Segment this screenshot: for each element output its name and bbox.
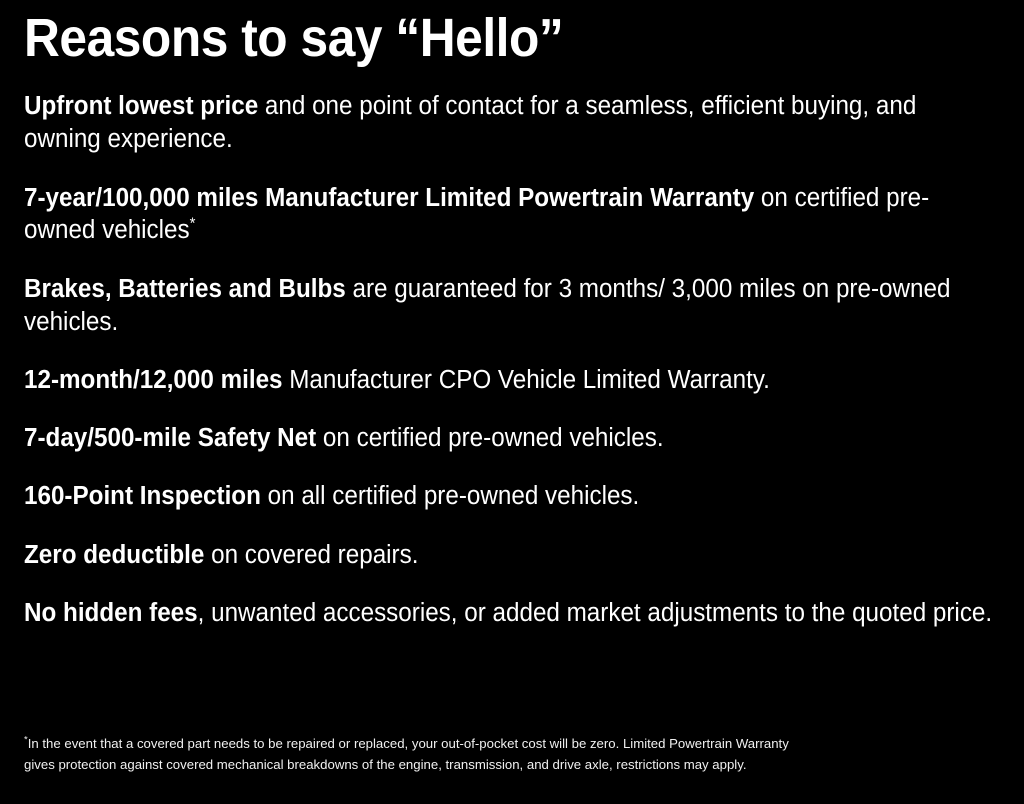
list-item-lead: No hidden fees	[24, 599, 198, 627]
list-item-lead: 7-day/500-mile Safety Net	[24, 424, 316, 452]
list-item-rest: on all certified pre-owned vehicles.	[261, 482, 639, 510]
list-item: Upfront lowest price and one point of co…	[24, 90, 998, 155]
list-item-lead: 12-month/12,000 miles	[24, 366, 283, 394]
list-item-rest: Manufacturer CPO Vehicle Limited Warrant…	[283, 366, 770, 394]
list-item-lead: Zero deductible	[24, 541, 204, 569]
list-item: Brakes, Batteries and Bulbs are guarante…	[24, 273, 998, 338]
list-item-rest: , unwanted accessories, or added market …	[198, 599, 992, 627]
list-item-lead: Upfront lowest price	[24, 92, 258, 120]
reasons-list: Upfront lowest price and one point of co…	[24, 90, 1000, 629]
footnote-line-1: *In the event that a covered part needs …	[24, 733, 1000, 754]
footnote-marker-icon: *	[190, 216, 196, 233]
footnote-line-1-text: In the event that a covered part needs t…	[28, 736, 789, 751]
list-item: 12-month/12,000 miles Manufacturer CPO V…	[24, 364, 998, 397]
slide-root: Reasons to say “Hello” Upfront lowest pr…	[0, 0, 1024, 804]
list-item: Zero deductible on covered repairs.	[24, 539, 998, 572]
list-item-rest: on certified pre-owned vehicles.	[316, 424, 663, 452]
list-item: 160-Point Inspection on all certified pr…	[24, 480, 998, 513]
list-item-lead: Brakes, Batteries and Bulbs	[24, 275, 346, 303]
list-item-lead: 7-year/100,000 miles Manufacturer Limite…	[24, 184, 754, 212]
list-item-rest: on covered repairs.	[204, 541, 418, 569]
list-item: 7-day/500-mile Safety Net on certified p…	[24, 422, 998, 455]
footnote-disclaimer: *In the event that a covered part needs …	[24, 733, 1000, 776]
list-item: 7-year/100,000 miles Manufacturer Limite…	[24, 182, 998, 247]
list-item: No hidden fees, unwanted accessories, or…	[24, 597, 998, 630]
page-title: Reasons to say “Hello”	[24, 0, 922, 68]
list-item-lead: 160-Point Inspection	[24, 482, 261, 510]
footnote-line-2: gives protection against covered mechani…	[24, 754, 1000, 775]
